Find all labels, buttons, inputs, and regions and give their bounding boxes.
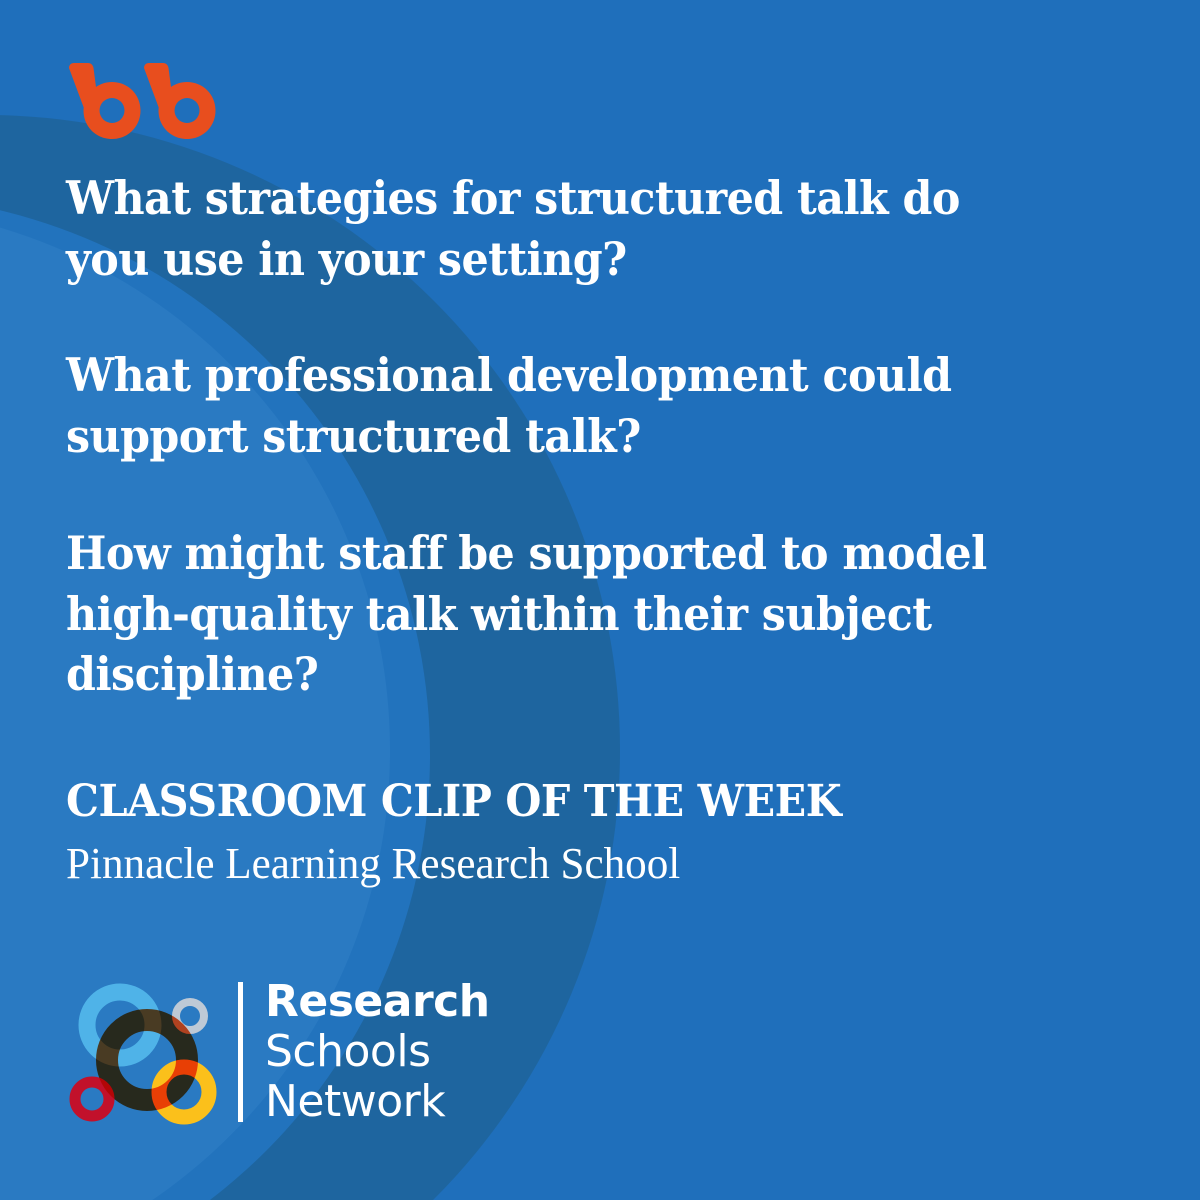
rsn-wordmark: Research Schools Network bbox=[265, 977, 490, 1127]
logo-divider bbox=[238, 982, 243, 1122]
question-list: What strategies for structured talk do y… bbox=[66, 168, 1126, 705]
page-title: CLASSROOM CLIP OF THE WEEK bbox=[66, 778, 1062, 826]
rsn-rings-mark-icon bbox=[64, 972, 224, 1132]
social-card: What strategies for structured talk do y… bbox=[0, 0, 1200, 1200]
rsn-word-schools: Schools bbox=[265, 1027, 490, 1077]
card-content: What strategies for structured talk do y… bbox=[0, 0, 1200, 1200]
rsn-word-research: Research bbox=[265, 977, 490, 1027]
rsn-word-network: Network bbox=[265, 1077, 490, 1127]
research-schools-network-logo: Research Schools Network bbox=[64, 968, 494, 1136]
question-item-3: How might staff be supported to model hi… bbox=[66, 523, 1052, 705]
bb-logo-icon bbox=[66, 62, 216, 140]
question-item-1: What strategies for structured talk do y… bbox=[66, 168, 1052, 289]
bb-logo bbox=[66, 62, 216, 140]
title-block: CLASSROOM CLIP OF THE WEEK Pinnacle Lear… bbox=[66, 778, 1126, 891]
question-item-2: What professional development could supp… bbox=[66, 345, 1052, 466]
school-name: Pinnacle Learning Research School bbox=[66, 836, 1105, 891]
